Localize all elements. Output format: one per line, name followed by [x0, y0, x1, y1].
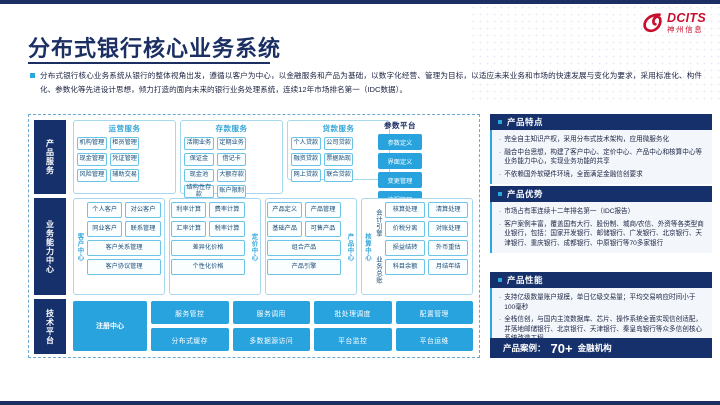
chip[interactable]: 柜员管理 [110, 137, 140, 150]
chip[interactable]: 损益结转 [385, 240, 425, 256]
group-deposit-service: 存款服务 活期业务 定期业务 保证金 借记卡 现金池 大额存款 结构性存款 账户… [180, 120, 283, 194]
chip-list: 个人客户 对公客户 同业客户 联系管理 客户关系管理 客户协议管理 [86, 199, 164, 294]
group-customer-center: 客户中心 个人客户 对公客户 同业客户 联系管理 客户关系管理 客户协议管理 [73, 198, 165, 295]
chip[interactable]: 现金管理 [77, 153, 107, 166]
chip-list: 利率计算 费率计算 汇率计算 税率计算 差异化价格 个性化价格 [170, 199, 248, 294]
tech-chip[interactable]: 配置管理 [396, 301, 474, 324]
chip[interactable]: 凭证管理 [110, 153, 140, 166]
list-item-text: 不依赖国外软硬件环境，全面满足金融信创要求 [504, 170, 642, 180]
group-accounting-center: 核算中心 会计引擎 业务总账 核算处理 清算处理 价税分离 对账处理 损益结转 … [361, 198, 473, 295]
chip[interactable]: 客户关系管理 [87, 240, 161, 256]
list-item-text: 融合中台思想，构建了客户中心、定价中心、产品中心和核算中心等业务能力中心，实现业… [504, 148, 706, 167]
chip[interactable]: 保证金 [184, 153, 214, 166]
sidebar-item-tech-platform[interactable]: 技术平台 [34, 299, 66, 354]
section-title: 产品优势 [507, 188, 543, 200]
list-item-text: 支持亿级数量账户规模，单日亿级交易量；平均交易响应时间小于100毫秒 [504, 293, 706, 312]
section-product-advantages: 产品优势 · 市场占有率连续十二年排名第一（IDC报告） · 客户案例丰富，覆盖… [490, 186, 712, 253]
tech-chip[interactable]: 服务管控 [151, 301, 229, 324]
accounting-engine-label: 会计引擎 [373, 199, 384, 247]
list-item: · 完全自主知识产权，采用分布式技术架构，应用微服务化 [499, 135, 706, 145]
section-header: 产品性能 [490, 272, 712, 288]
list-item: · 客户案例丰富，覆盖国有大行、股份制、城商/农信、外资等各类型商业银行，包括：… [499, 220, 706, 249]
chip[interactable]: 客户协议管理 [87, 259, 161, 275]
group-product-center: 产品定义 产品管理 基础产品 可售产品 组合产品 产品引擎 产品中心 [265, 198, 357, 295]
brand-logo: DCITS 神州信息 [642, 12, 706, 33]
chip[interactable]: 清算处理 [428, 202, 468, 218]
chip-list: 产品定义 产品管理 基础产品 可售产品 组合产品 产品引擎 [266, 199, 344, 294]
param-button[interactable]: 变更管理 [378, 172, 422, 188]
logo-cn-text: 神州信息 [667, 26, 706, 34]
section-body: · 市场占有率连续十二年排名第一（IDC报告） · 客户案例丰富，覆盖国有大行、… [490, 202, 712, 253]
dcits-swirl-icon [642, 12, 663, 33]
section-header: 产品优势 [490, 186, 712, 202]
chip[interactable]: 核算处理 [385, 202, 425, 218]
chip[interactable]: 融资贷款 [291, 153, 321, 166]
chip[interactable]: 税率计算 [209, 221, 244, 237]
logo-en-text: DCITS [667, 12, 706, 25]
group-vertical-label: 产品中心 [344, 199, 356, 294]
dot-bullet-icon: · [499, 207, 501, 217]
case-suffix: 金融机构 [578, 342, 612, 354]
chip[interactable]: 汇率计算 [171, 221, 206, 237]
chip[interactable]: 票据贴现 [324, 153, 354, 166]
dot-bullet-icon: · [499, 293, 501, 312]
list-item-text: 市场占有率连续十二年排名第一（IDC报告） [504, 207, 634, 217]
dot-bullet-icon: · [499, 220, 501, 249]
chip[interactable]: 网上贷款 [291, 169, 321, 182]
chip[interactable]: 利率计算 [171, 202, 206, 218]
chip[interactable]: 可售产品 [305, 221, 340, 237]
dot-bullet-icon: · [499, 148, 501, 167]
section-product-features: 产品特点 · 完全自主知识产权，采用分布式技术架构，应用微服务化 · 融合中台思… [490, 114, 712, 184]
dot-bullet-icon: · [499, 170, 501, 180]
page-title: 分布式银行核心业务系统 [28, 31, 281, 63]
chip[interactable]: 个性化价格 [171, 259, 245, 275]
chip[interactable]: 科目余额 [385, 259, 425, 275]
logo-wordmark: DCITS 神州信息 [667, 12, 706, 33]
chip[interactable]: 费率计算 [209, 202, 244, 218]
section-title: 产品特点 [507, 116, 543, 128]
tech-chip[interactable]: 批处理调度 [314, 301, 392, 324]
chip[interactable]: 大额存款 [217, 169, 247, 182]
chip[interactable]: 个人客户 [87, 202, 122, 218]
group-vertical-label: 客户中心 [74, 199, 86, 294]
chip[interactable]: 机构管理 [77, 137, 107, 150]
case-value: 70+ [551, 341, 573, 356]
tech-chip-grid: 服务管控 服务调用 批处理调度 配置管理 分布式缓存 多数据源访问 平台监控 平… [151, 301, 473, 351]
list-item: · 融合中台思想，构建了客户中心、定价中心、产品中心和核算中心等业务能力中心，实… [499, 148, 706, 167]
business-ledger-label: 业务总账 [373, 247, 384, 295]
chip[interactable]: 借记卡 [217, 153, 247, 166]
chip[interactable]: 同业客户 [87, 221, 122, 237]
sidebar-item-product-service[interactable]: 产品服务 [34, 120, 66, 194]
register-center-button[interactable]: 注册中心 [73, 301, 147, 351]
tech-chip[interactable]: 分布式缓存 [151, 328, 229, 351]
param-button[interactable]: 参数定义 [378, 134, 422, 150]
chip[interactable]: 现金池 [184, 169, 214, 182]
square-bullet-icon [498, 192, 502, 196]
chip-list: 机构管理 柜员管理 现金管理 凭证管理 风险管理 辅助交易 [74, 134, 175, 185]
chip[interactable]: 结构性存款 [184, 185, 214, 198]
right-info-panel: 产品特点 · 完全自主知识产权，采用分布式技术架构，应用微服务化 · 融合中台思… [490, 114, 712, 358]
square-bullet-icon [30, 73, 35, 78]
chip[interactable]: 外币重估 [428, 240, 468, 256]
chip[interactable]: 风险管理 [77, 169, 107, 182]
section-title: 产品性能 [507, 274, 543, 286]
intro-paragraph: 分布式银行核心业务系统从银行的整体视角出发，遵循以客户为中心，以金融服务和产品为… [30, 69, 702, 97]
tech-chip[interactable]: 平台监控 [314, 328, 392, 351]
chip[interactable]: 产品定义 [267, 202, 302, 218]
list-item-text: 客户案例丰富，覆盖国有大行、股份制、城商/农信、外资等各类型商业银行，包括：国家… [504, 220, 706, 249]
chip[interactable]: 对公客户 [125, 202, 160, 218]
group-title: 运营服务 [74, 121, 175, 134]
intro-text: 分布式银行核心业务系统从银行的整体视角出发，遵循以客户为中心，以金融服务和产品为… [40, 69, 702, 97]
chip[interactable]: 差异化价格 [171, 240, 245, 256]
list-item: · 支持亿级数量账户规模，单日亿级交易量；平均交易响应时间小于100毫秒 [499, 293, 706, 312]
group-pricing-center: 利率计算 费率计算 汇率计算 税率计算 差异化价格 个性化价格 定价中心 [169, 198, 261, 295]
chip[interactable]: 基础产品 [267, 221, 302, 237]
list-item-text: 完全自主知识产权，采用分布式技术架构，应用微服务化 [504, 135, 669, 145]
chip[interactable]: 联合贷款 [324, 169, 354, 182]
section-body: · 完全自主知识产权，采用分布式技术架构，应用微服务化 · 融合中台思想，构建了… [490, 130, 712, 184]
chip-list: 核算处理 清算处理 价税分离 对账处理 损益结转 外币重估 科目余额 月结年结 [384, 199, 472, 294]
group-title: 存款服务 [181, 121, 282, 134]
chip[interactable]: 联系管理 [125, 221, 160, 237]
architecture-diagram: 产品服务 业务能力中心 技术平台 运营服务 机构管理 柜员管理 现金管理 凭证管… [28, 114, 480, 358]
chip[interactable]: 月结年结 [428, 259, 468, 275]
chip[interactable]: 定期业务 [217, 137, 247, 150]
chip[interactable]: 个人贷款 [291, 137, 321, 150]
chip[interactable]: 辅助交易 [110, 169, 140, 182]
group-operation-service: 运营服务 机构管理 柜员管理 现金管理 凭证管理 风险管理 辅助交易 [73, 120, 176, 194]
tech-chip[interactable]: 多数据源访问 [233, 328, 311, 351]
slide-root: DCITS 神州信息 分布式银行核心业务系统 分布式银行核心业务系统从银行的整体… [0, 0, 720, 405]
bottom-accent-bar [0, 401, 720, 405]
tech-platform-row: 注册中心 服务管控 服务调用 批处理调度 配置管理 分布式缓存 多数据源访问 平… [73, 301, 473, 351]
chip[interactable]: 组合产品 [267, 240, 341, 256]
chip[interactable]: 公司贷款 [324, 137, 354, 150]
chip[interactable]: 产品引擎 [267, 259, 341, 275]
group-vertical-label: 定价中心 [248, 199, 260, 294]
list-item: · 市场占有率连续十二年排名第一（IDC报告） [499, 207, 706, 217]
chip[interactable]: 价税分离 [385, 221, 425, 237]
dot-bullet-icon: · [499, 135, 501, 145]
sidebar-item-capability-center[interactable]: 业务能力中心 [34, 198, 66, 295]
top-accent-bar [0, 0, 720, 4]
accounting-center-label: 核算中心 [362, 199, 373, 294]
chip[interactable]: 产品管理 [305, 202, 340, 218]
chip[interactable]: 账户限制 [217, 185, 247, 198]
tech-chip[interactable]: 服务调用 [233, 301, 311, 324]
case-label: 产品案例： [503, 342, 546, 354]
group-title: 参数平台 [372, 120, 428, 131]
chip[interactable]: 对账处理 [428, 221, 468, 237]
list-item: · 不依赖国外软硬件环境，全面满足金融信创要求 [499, 170, 706, 180]
square-bullet-icon [498, 278, 502, 282]
square-bullet-icon [498, 120, 502, 124]
title-underline [28, 62, 270, 64]
tech-chip[interactable]: 平台运维 [396, 328, 474, 351]
chip[interactable]: 活期业务 [184, 137, 214, 150]
section-product-cases: 产品案例： 70+ 金融机构 [490, 338, 712, 358]
section-header: 产品特点 [490, 114, 712, 130]
param-button[interactable]: 界面定义 [378, 153, 422, 169]
